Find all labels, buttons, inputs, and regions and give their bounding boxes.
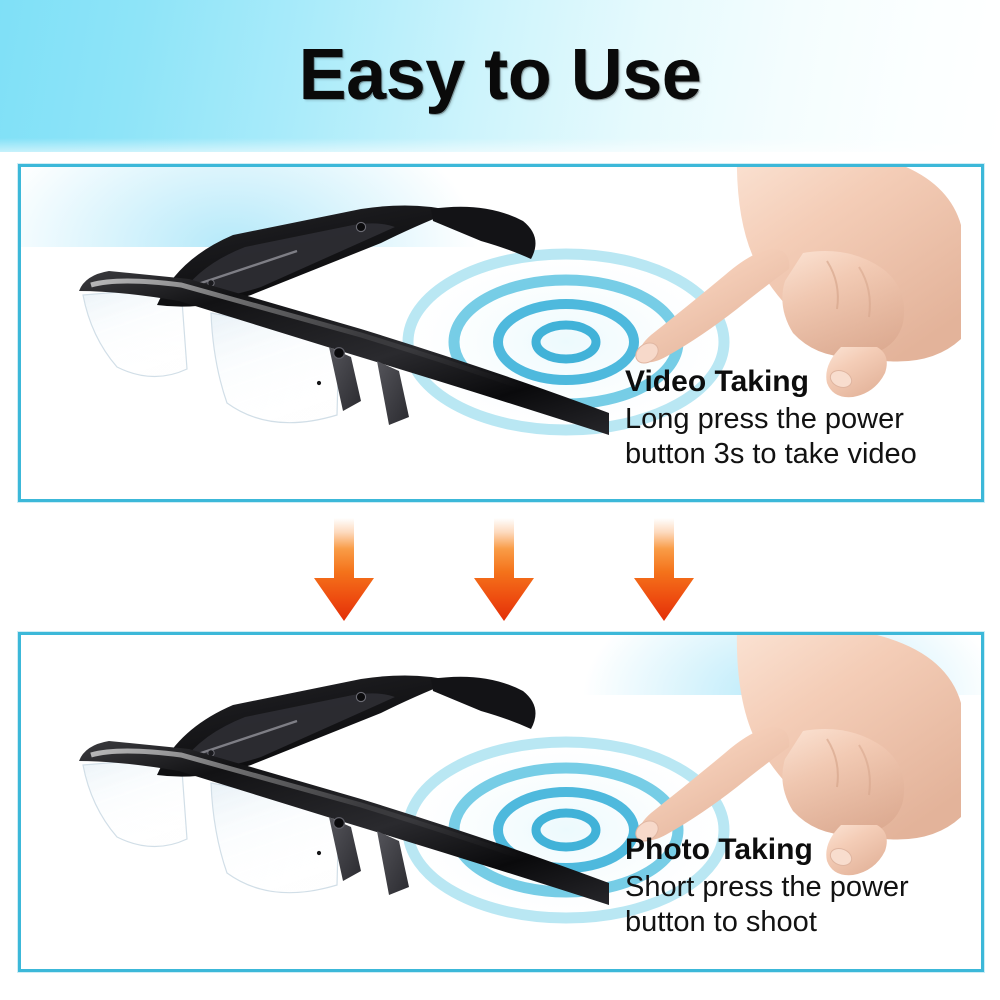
caption-line-2: button to shoot (625, 905, 909, 940)
flow-arrows (0, 518, 1000, 626)
arrow-down-icon (473, 518, 535, 622)
glasses-icon (61, 187, 621, 477)
caption-line-2: button 3s to take video (625, 437, 917, 472)
caption-title: Photo Taking (625, 833, 909, 868)
panel-photo-taking: Photo Taking Short press the power butto… (18, 632, 984, 972)
caption-line-1: Long press the power (625, 402, 917, 437)
caption-photo: Photo Taking Short press the power butto… (625, 833, 909, 941)
arrow-down-icon (633, 518, 695, 622)
panel-video-taking: Video Taking Long press the power button… (18, 164, 984, 502)
caption-line-1: Short press the power (625, 870, 909, 905)
page-title: Easy to Use (0, 34, 1000, 116)
caption-video: Video Taking Long press the power button… (625, 365, 917, 473)
caption-title: Video Taking (625, 365, 917, 400)
infographic-canvas: Easy to Use (0, 0, 1000, 1000)
arrow-down-icon (313, 518, 375, 622)
glasses-icon (61, 657, 621, 947)
